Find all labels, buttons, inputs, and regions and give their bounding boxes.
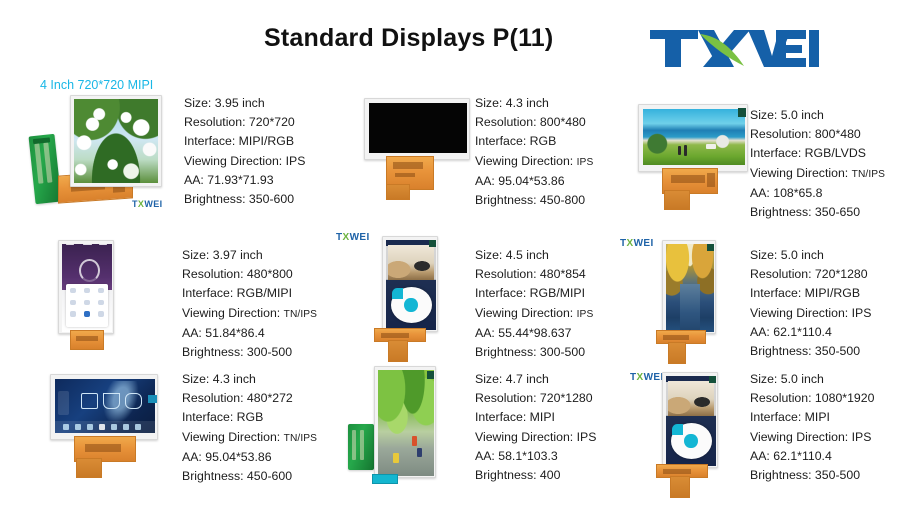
product-9-image: [656, 372, 756, 490]
spec-resolution: Resolution: 800*480: [475, 113, 593, 132]
monitor-icon: [81, 393, 98, 409]
spec-aa: AA: 51.84*86.4: [182, 324, 317, 343]
screen-content-flowers: [74, 99, 158, 183]
flex-cable-tail: [670, 476, 690, 498]
screen-content-green-street: [378, 370, 434, 476]
spec-aa: AA: 71.93*71.93: [184, 171, 305, 190]
spec-aa: AA: 95.04*53.86: [182, 448, 317, 467]
screen-dial: [671, 423, 712, 459]
product-7-image: [50, 374, 170, 482]
screen-app-card: [66, 284, 108, 326]
spec-size: Size: 3.95 inch: [184, 94, 305, 113]
driver-pcb: [348, 424, 374, 470]
product-4-specs: Size: 3.97 inch Resolution: 480*800 Inte…: [182, 246, 317, 362]
display-screen: [386, 240, 436, 330]
display-bezel: [662, 240, 716, 334]
spec-viewing-direction: Viewing Direction: TN/IPS: [182, 428, 317, 448]
spec-resolution: Resolution: 480*854: [475, 265, 593, 284]
spec-size: Size: 5.0 inch: [750, 106, 885, 125]
flex-cable: [372, 474, 398, 484]
display-screen: [666, 376, 716, 466]
spec-brightness: Brightness: 400: [475, 466, 596, 485]
screen-room-photo: [668, 381, 714, 415]
spec-aa: AA: 58.1*103.3: [475, 447, 596, 466]
product-3-specs: Size: 5.0 inch Resolution: 800*480 Inter…: [750, 106, 885, 222]
product-1-image: TXWEI: [28, 95, 173, 210]
screen-road: [680, 284, 699, 332]
spec-viewing-direction: Viewing Direction: TN/IPS: [182, 304, 317, 324]
product-8-image: [348, 366, 468, 486]
spec-size: Size: 4.5 inch: [475, 246, 593, 265]
watermark-logo: TXWEI: [620, 238, 654, 249]
spec-interface: Interface: RGB: [475, 132, 593, 151]
spec-interface: Interface: MIPI/RGB: [750, 284, 871, 303]
screen-content-autumn-avenue: [666, 244, 714, 332]
screen-progress-ring: [79, 259, 100, 282]
spec-size: Size: 4.3 inch: [182, 370, 317, 389]
spec-size: Size: 3.97 inch: [182, 246, 317, 265]
screen-statusbar: [62, 244, 112, 252]
spec-resolution: Resolution: 720*720: [184, 113, 305, 132]
product-2-image: [364, 98, 474, 198]
spec-viewing-direction: Viewing Direction: IPS: [184, 152, 305, 171]
spec-interface: Interface: MIPI: [750, 408, 874, 427]
flex-cable-tail: [76, 458, 102, 478]
product-7-specs: Size: 4.3 inch Resolution: 480*272 Inter…: [182, 370, 317, 486]
display-bezel: [638, 104, 748, 172]
spec-resolution: Resolution: 480*800: [182, 265, 317, 284]
display-bezel: [58, 240, 114, 334]
product-5-image: [374, 236, 474, 354]
spec-brightness: Brightness: 350-600: [184, 190, 305, 209]
spec-viewing-direction: Viewing Direction: IPS: [475, 152, 593, 172]
product-6-specs: Size: 5.0 inch Resolution: 720*1280 Inte…: [750, 246, 871, 361]
spec-viewing-direction: Viewing Direction: IPS: [750, 428, 874, 447]
product-4-image: [58, 240, 154, 350]
spec-size: Size: 4.7 inch: [475, 370, 596, 389]
display-bezel: [382, 236, 438, 332]
spec-viewing-direction: Viewing Direction: IPS: [475, 304, 593, 324]
screen-side-panel: [58, 391, 69, 415]
glasses-icon: [125, 393, 142, 409]
spec-aa: AA: 62.1*110.4: [750, 447, 874, 466]
spec-brightness: Brightness: 350-500: [750, 466, 874, 485]
flex-cable-tail: [664, 190, 690, 210]
product-1-specs: Size: 3.95 inch Resolution: 720*720 Inte…: [184, 94, 305, 209]
spec-aa: AA: 62.1*110.4: [750, 323, 871, 342]
spec-resolution: Resolution: 480*272: [182, 389, 317, 408]
product-8-specs: Size: 4.7 inch Resolution: 720*1280 Inte…: [475, 370, 596, 485]
display-screen: [55, 379, 155, 433]
display-screen: [666, 244, 714, 332]
screen-content-beach: [643, 109, 745, 165]
display-screen: [369, 103, 467, 153]
flex-cable: [70, 330, 104, 350]
spec-aa: AA: 108*65.8: [750, 184, 885, 203]
flex-cable-tail: [388, 340, 408, 362]
spec-resolution: Resolution: 720*1280: [475, 389, 596, 408]
spec-size: Size: 4.3 inch: [475, 94, 593, 113]
spec-aa: AA: 95.04*53.86: [475, 172, 593, 191]
spec-size: Size: 5.0 inch: [750, 370, 874, 389]
product-3-image: [638, 104, 753, 212]
flex-cable-tail: [386, 184, 410, 200]
spec-brightness: Brightness: 350-500: [750, 342, 871, 361]
product-6-image: [656, 240, 756, 358]
slide-canvas: Standard Displays P(11) 4 Inch 720*720 M…: [0, 0, 920, 517]
spec-viewing-direction: Viewing Direction: IPS: [750, 304, 871, 323]
spec-brightness: Brightness: 450-800: [475, 191, 593, 210]
screen-dial-segment: [392, 288, 403, 299]
spec-interface: Interface: MIPI: [475, 408, 596, 427]
txwei-logo: [648, 22, 820, 74]
spec-viewing-direction: Viewing Direction: IPS: [475, 428, 596, 447]
spec-resolution: Resolution: 800*480: [750, 125, 885, 144]
cup-icon: [103, 393, 120, 409]
screen-dial: [391, 287, 432, 323]
spec-resolution: Resolution: 1080*1920: [750, 389, 874, 408]
screen-content-dashboard: [55, 379, 155, 433]
display-screen: [378, 370, 434, 476]
screen-dial-segment: [672, 424, 683, 435]
spec-resolution: Resolution: 720*1280: [750, 265, 871, 284]
screen-content-phone-ui: [62, 244, 112, 332]
spec-interface: Interface: RGB: [182, 408, 317, 427]
screen-content-control-dial: [666, 376, 716, 466]
spec-interface: Interface: RGB/MIPI: [182, 284, 317, 303]
display-bezel: [374, 366, 436, 478]
spec-brightness: Brightness: 300-500: [182, 343, 317, 362]
spec-brightness: Brightness: 450-600: [182, 467, 317, 486]
product-9-specs: Size: 5.0 inch Resolution: 1080*1920 Int…: [750, 370, 874, 485]
display-bezel: [50, 374, 158, 440]
product-2-specs: Size: 4.3 inch Resolution: 800*480 Inter…: [475, 94, 593, 210]
display-bezel: [364, 98, 470, 160]
watermark-logo: TXWEI: [336, 232, 370, 243]
txwei-logo-svg: [648, 22, 820, 74]
product-5-specs: Size: 4.5 inch Resolution: 480*854 Inter…: [475, 246, 593, 362]
screen-room-photo: [388, 245, 434, 279]
spec-aa: AA: 55.44*98.637: [475, 324, 593, 343]
display-screen: [62, 244, 112, 332]
display-bezel: [70, 95, 162, 187]
spec-interface: Interface: RGB/LVDS: [750, 144, 885, 163]
display-screen: [74, 99, 158, 183]
flex-cable-tail: [668, 342, 686, 364]
page-title: Standard Displays P(11): [264, 24, 553, 53]
spec-brightness: Brightness: 350-650: [750, 203, 885, 222]
spec-brightness: Brightness: 300-500: [475, 343, 593, 362]
product-1-caption: 4 Inch 720*720 MIPI: [40, 78, 153, 92]
driver-pcb: [29, 134, 62, 204]
screen-content-control-dial: [386, 240, 436, 330]
spec-interface: Interface: MIPI/RGB: [184, 132, 305, 151]
spec-interface: Interface: RGB/MIPI: [475, 284, 593, 303]
spec-size: Size: 5.0 inch: [750, 246, 871, 265]
watermark-logo: TXWEI: [132, 199, 163, 209]
display-screen: [643, 109, 745, 165]
display-bezel: [662, 372, 718, 468]
spec-viewing-direction: Viewing Direction: TN/IPS: [750, 164, 885, 184]
